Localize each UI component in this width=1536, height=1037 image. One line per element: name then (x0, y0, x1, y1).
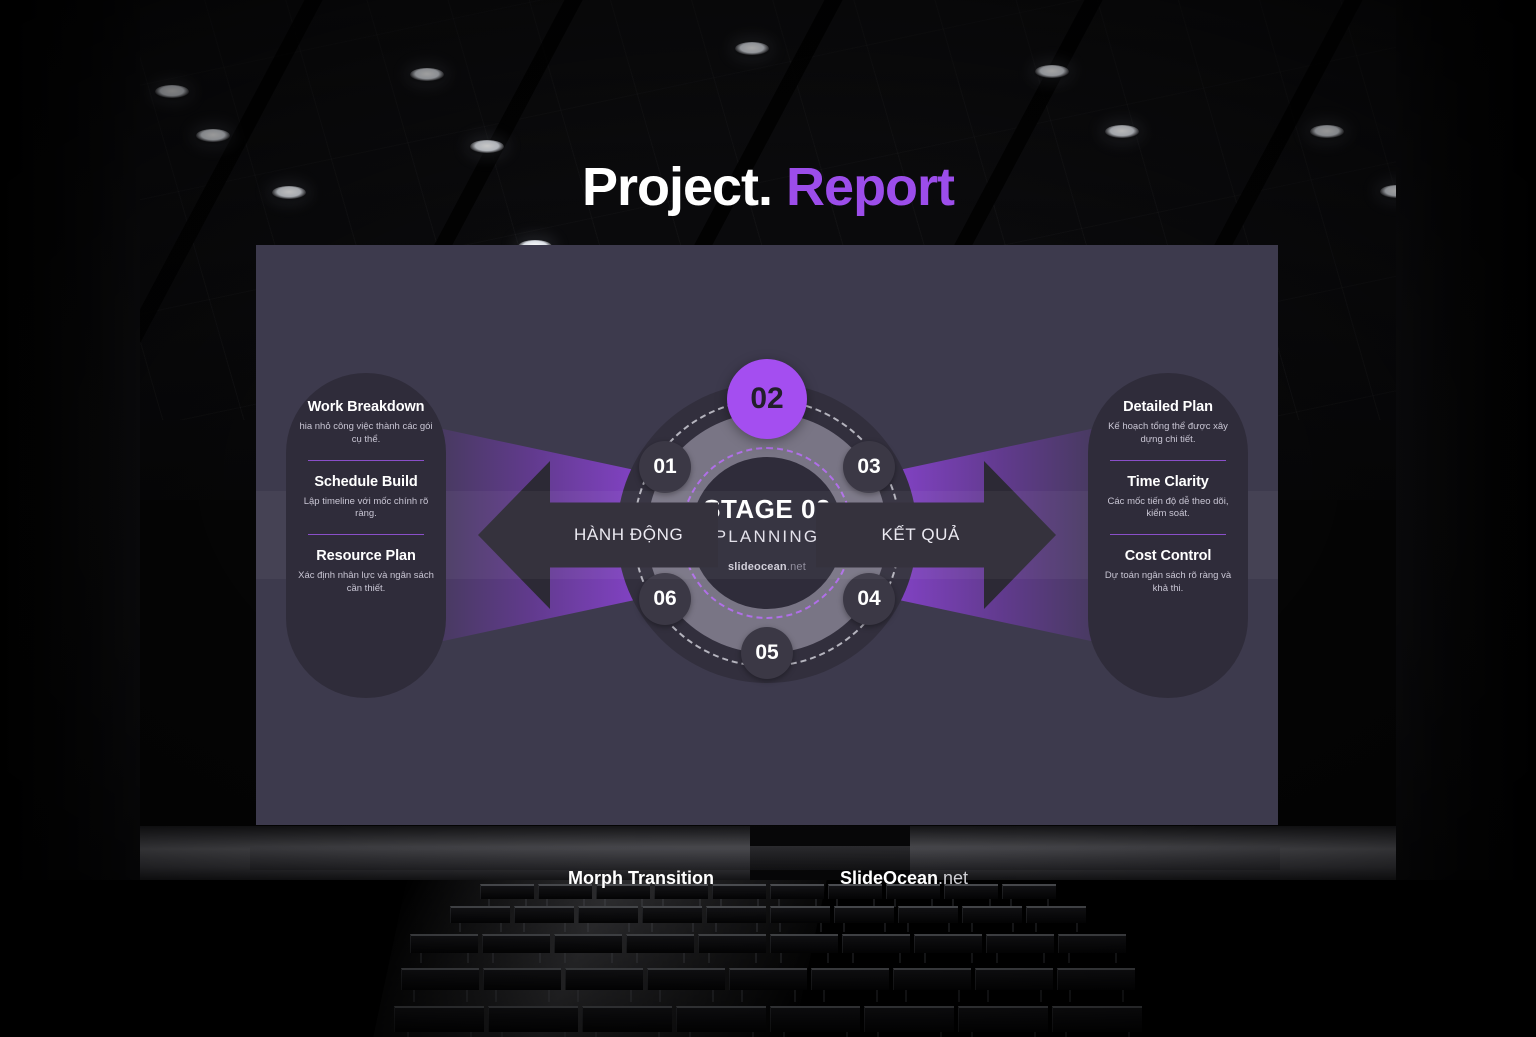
footer-brand-bold: SlideOcean (840, 868, 938, 888)
left-divider-2 (308, 534, 424, 535)
right-item-1-title: Detailed Plan (1100, 399, 1236, 415)
presentation-slide: STAGE 02 PLANNING slideocean.net 01 02 0… (256, 245, 1278, 825)
step-dot-04[interactable]: 04 (843, 573, 895, 625)
step-dot-05[interactable]: 05 (741, 627, 793, 679)
ceiling-spotlight (410, 68, 444, 81)
left-panel: Work Breakdown hia nhỏ công việc thành c… (286, 373, 446, 698)
right-item-3-desc: Dự toán ngân sách rõ ràng và khả thi. (1100, 570, 1236, 596)
right-item-2[interactable]: Time Clarity Các mốc tiến độ dễ theo dõi… (1100, 474, 1236, 522)
ceiling-spotlight (735, 42, 769, 55)
left-item-1-title: Work Breakdown (298, 399, 434, 415)
ceiling-spotlight (470, 140, 504, 153)
footer-brand-light: .net (938, 868, 968, 888)
right-item-3[interactable]: Cost Control Dự toán ngân sách rõ ràng v… (1100, 548, 1236, 596)
footer-brand: SlideOcean.net (840, 868, 968, 889)
title-word-report: Report (786, 157, 954, 217)
arrow-left-label: HÀNH ĐỘNG (574, 525, 683, 545)
left-item-2[interactable]: Schedule Build Lập timeline với mốc chín… (298, 474, 434, 522)
step-dot-03[interactable]: 03 (843, 441, 895, 493)
footer-morph-transition: Morph Transition (568, 868, 714, 889)
ceiling-spotlight (1105, 125, 1139, 138)
left-divider-1 (308, 460, 424, 461)
right-item-3-title: Cost Control (1100, 548, 1236, 564)
title-word-project: Project. (582, 157, 772, 217)
auditorium-seating (0, 880, 1536, 1037)
right-divider-2 (1110, 534, 1226, 535)
ceiling-spotlight (155, 85, 189, 98)
step-dot-06[interactable]: 06 (639, 573, 691, 625)
left-item-2-desc: Lập timeline với mốc chính rõ ràng. (298, 496, 434, 522)
stage-riser (250, 846, 1280, 870)
watermark-bold: slideocean (728, 561, 787, 573)
right-item-2-title: Time Clarity (1100, 474, 1236, 490)
step-dot-02[interactable]: 02 (727, 359, 807, 439)
right-panel: Detailed Plan Kế hoạch tổng thể được xây… (1088, 373, 1248, 698)
right-divider-1 (1110, 460, 1226, 461)
watermark-light: .net (787, 561, 806, 573)
step-dot-01[interactable]: 01 (639, 441, 691, 493)
left-item-1[interactable]: Work Breakdown hia nhỏ công việc thành c… (298, 399, 434, 447)
center-subtitle: PLANNING (715, 527, 820, 547)
center-stage-title: STAGE 02 (703, 494, 831, 525)
right-item-1-desc: Kế hoạch tổng thể được xây dựng chi tiết… (1100, 421, 1236, 447)
right-item-1[interactable]: Detailed Plan Kế hoạch tổng thể được xây… (1100, 399, 1236, 447)
page-title: Project. Report (0, 160, 1536, 214)
ceiling-spotlight (1310, 125, 1344, 138)
left-item-1-desc: hia nhỏ công việc thành các gói cụ thể. (298, 421, 434, 447)
arrow-right-label: KẾT QUẢ (881, 525, 960, 545)
ceiling-spotlight (196, 129, 230, 142)
left-item-3-title: Resource Plan (298, 548, 434, 564)
right-item-2-desc: Các mốc tiến độ dễ theo dõi, kiểm soát. (1100, 496, 1236, 522)
center-watermark: slideocean.net (728, 561, 806, 573)
chair-row (0, 934, 1536, 953)
left-item-3[interactable]: Resource Plan Xác định nhân lực và ngân … (298, 548, 434, 596)
left-item-3-desc: Xác định nhân lực và ngân sách cần thiết… (298, 570, 434, 596)
screenshot-root: Project. Report STAGE 02 PLANNING slideo… (0, 0, 1536, 1037)
left-item-2-title: Schedule Build (298, 474, 434, 490)
ceiling-spotlight (1035, 65, 1069, 78)
chair-row (0, 1006, 1536, 1032)
chair-row (0, 968, 1536, 990)
footer: Morph Transition SlideOcean.net (0, 868, 1536, 889)
chair-row (0, 906, 1536, 923)
